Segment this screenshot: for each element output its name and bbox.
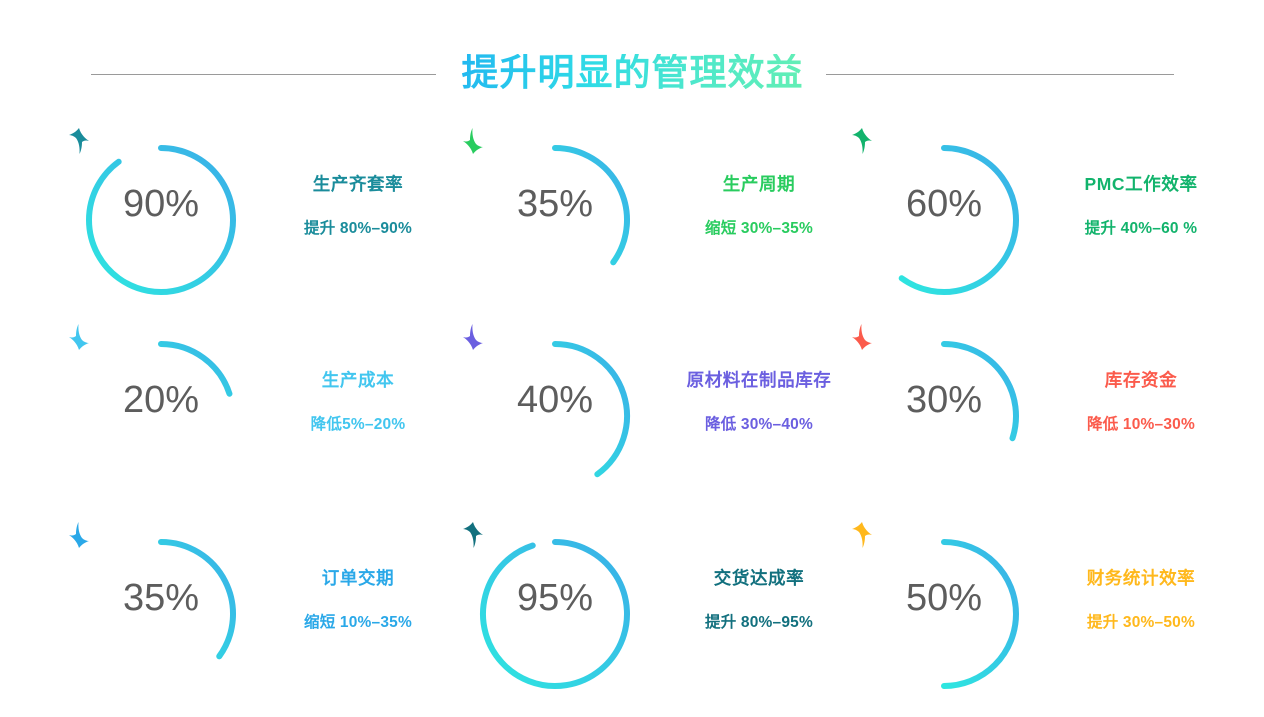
metric-card: 40%原材料在制品库存降低 30%–40% bbox=[462, 323, 852, 519]
metric-title: 原材料在制品库存 bbox=[666, 371, 852, 390]
gauge-ring: 95% bbox=[462, 521, 648, 707]
gauge-ring: 30% bbox=[851, 323, 1037, 509]
gauge-center: 30% bbox=[851, 323, 1037, 509]
metric-title: 生产成本 bbox=[258, 371, 458, 390]
metric-card: 90%生产齐套率提升 80%–90% bbox=[68, 127, 458, 323]
metric-card: 30%库存资金降低 10%–30% bbox=[851, 323, 1241, 519]
metric-subtitle: 降低 30%–40% bbox=[666, 416, 852, 433]
gauge-ring: 20% bbox=[68, 323, 254, 509]
gauge-value: 60% bbox=[906, 185, 982, 223]
metric-title: 生产周期 bbox=[666, 175, 852, 194]
metric-subtitle: 降低5%–20% bbox=[258, 416, 458, 433]
gauge-value: 95% bbox=[517, 579, 593, 617]
page-title: 提升明显的管理效益 bbox=[462, 54, 804, 95]
metric-card: 20%生产成本降低5%–20% bbox=[68, 323, 458, 519]
gauge-value: 50% bbox=[906, 579, 982, 617]
metric-title: 财务统计效率 bbox=[1041, 569, 1241, 588]
gauge-ring: 60% bbox=[851, 127, 1037, 313]
gauge-center: 95% bbox=[462, 521, 648, 707]
gauge-center: 90% bbox=[68, 127, 254, 313]
metric-subtitle: 降低 10%–30% bbox=[1041, 416, 1241, 433]
metric-text: 生产齐套率提升 80%–90% bbox=[254, 127, 458, 237]
metric-card: 35%生产周期缩短 30%–35% bbox=[462, 127, 852, 323]
metric-card: 60%PMC工作效率提升 40%–60 % bbox=[851, 127, 1241, 323]
metric-title: PMC工作效率 bbox=[1041, 175, 1241, 194]
metric-subtitle: 提升 80%–95% bbox=[666, 614, 852, 631]
gauge-ring: 35% bbox=[462, 127, 648, 313]
metric-subtitle: 缩短 10%–35% bbox=[258, 614, 458, 631]
gauge-value: 90% bbox=[123, 185, 199, 223]
metric-text: PMC工作效率提升 40%–60 % bbox=[1037, 127, 1241, 237]
gauge-value: 30% bbox=[906, 381, 982, 419]
gauge-ring: 90% bbox=[68, 127, 254, 313]
metric-card: 35%订单交期缩短 10%–35% bbox=[68, 521, 458, 717]
metric-text: 交货达成率提升 80%–95% bbox=[648, 521, 852, 631]
metric-text: 原材料在制品库存降低 30%–40% bbox=[648, 323, 852, 433]
metric-card: 50%财务统计效率提升 30%–50% bbox=[851, 521, 1241, 717]
metric-subtitle: 提升 80%–90% bbox=[258, 220, 458, 237]
metric-title: 交货达成率 bbox=[666, 569, 852, 588]
metrics-grid: 90%生产齐套率提升 80%–90%35%生产周期缩短 30%–35%60%PM… bbox=[0, 123, 1264, 710]
gauge-center: 60% bbox=[851, 127, 1037, 313]
gauge-value: 20% bbox=[123, 381, 199, 419]
page-header: 提升明显的管理效益 bbox=[0, 44, 1264, 104]
gauge-center: 50% bbox=[851, 521, 1037, 707]
metric-title: 订单交期 bbox=[258, 569, 458, 588]
gauge-center: 35% bbox=[462, 127, 648, 313]
gauge-value: 35% bbox=[123, 579, 199, 617]
metric-subtitle: 缩短 30%–35% bbox=[666, 220, 852, 237]
metric-title: 生产齐套率 bbox=[258, 175, 458, 194]
gauge-value: 40% bbox=[517, 381, 593, 419]
gauge-ring: 35% bbox=[68, 521, 254, 707]
gauge-value: 35% bbox=[517, 185, 593, 223]
metric-text: 订单交期缩短 10%–35% bbox=[254, 521, 458, 631]
metric-text: 生产周期缩短 30%–35% bbox=[648, 127, 852, 237]
metric-title: 库存资金 bbox=[1041, 371, 1241, 390]
metric-text: 库存资金降低 10%–30% bbox=[1037, 323, 1241, 433]
metric-subtitle: 提升 40%–60 % bbox=[1041, 220, 1241, 237]
title-divider-left bbox=[91, 74, 436, 75]
gauge-ring: 40% bbox=[462, 323, 648, 509]
metric-text: 财务统计效率提升 30%–50% bbox=[1037, 521, 1241, 631]
gauge-ring: 50% bbox=[851, 521, 1037, 707]
gauge-center: 40% bbox=[462, 323, 648, 509]
title-divider-right bbox=[826, 74, 1174, 75]
metric-text: 生产成本降低5%–20% bbox=[254, 323, 458, 433]
metric-subtitle: 提升 30%–50% bbox=[1041, 614, 1241, 631]
gauge-center: 35% bbox=[68, 521, 254, 707]
gauge-center: 20% bbox=[68, 323, 254, 509]
metric-card: 95%交货达成率提升 80%–95% bbox=[462, 521, 852, 717]
